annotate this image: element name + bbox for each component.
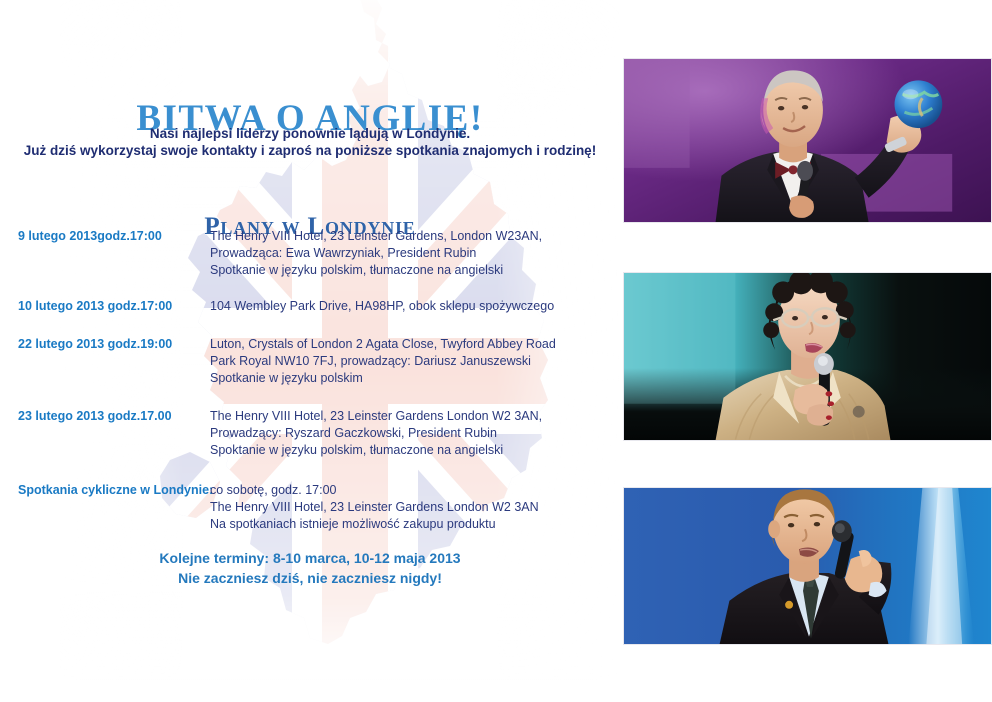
schedule-detail-line: Luton, Crystals of London 2 Agata Close,… [210,336,620,353]
schedule-detail-line: Prowadzący: Ryszard Gaczkowski, Presiden… [210,425,620,442]
schedule-row: 9 lutego 2013godz.17:00 The Henry VIII H… [0,228,620,279]
content-column: BITWA O ANGLIĘ! Nasi najlepsi liderzy po… [0,0,620,702]
schedule-row: 22 lutego 2013 godz.19:00 Luton, Crystal… [0,336,620,387]
footer-block: Kolejne terminy: 8-10 marca, 10-12 maja … [0,548,620,588]
schedule-details: Luton, Crystals of London 2 Agata Close,… [210,336,620,387]
schedule-detail-line: The Henry VIII Hotel, 23 Leinster Garden… [210,408,620,425]
schedule-list: 9 lutego 2013godz.17:00 The Henry VIII H… [0,228,620,533]
subtitle-line-1: Nasi najlepsi liderzy ponownie lądują w … [20,126,600,143]
schedule-details: The Henry VIII Hotel, 23 Leinster Garden… [210,408,620,459]
schedule-detail-line: The Henry VIII Hotel, 23 Leinster Garden… [210,499,620,516]
schedule-detail-line: Spotkanie w języku polskim [210,370,620,387]
subtitle-line-2: Już dziś wykorzystaj swoje kontakty i za… [20,143,600,160]
footer-line-2: Nie zaczniesz dziś, nie zaczniesz nigdy! [0,568,620,588]
schedule-detail-line: co sobotę, godz. 17:00 [210,482,620,499]
schedule-detail-line: Spoktanie w języku polskim, tłumaczone n… [210,442,620,459]
schedule-detail-line: Park Royal NW10 7FJ, prowadzący: Dariusz… [210,353,620,370]
photo-speaker-with-globe [623,58,992,223]
recurring-label: Spotkania cykliczne w Londynie: [0,482,210,498]
schedule-date-label: 10 lutego 2013 godz.17:00 [0,298,210,314]
schedule-detail-line: The Henry VIII Hotel, 23 Leinster Garden… [210,228,620,245]
schedule-row: 23 lutego 2013 godz.17.00 The Henry VIII… [0,408,620,459]
schedule-row-recurring: Spotkania cykliczne w Londynie: co sobot… [0,482,620,533]
schedule-date-label: 9 lutego 2013godz.17:00 [0,228,210,244]
schedule-details: The Henry VIII Hotel, 23 Leinster Garden… [210,228,620,279]
schedule-date-label: 23 lutego 2013 godz.17.00 [0,408,210,424]
schedule-detail-line: Na spotkaniach istnieje możliwość zakupu… [210,516,620,533]
poster-canvas: BITWA O ANGLIĘ! Nasi najlepsi liderzy po… [0,0,992,702]
schedule-row: 10 lutego 2013 godz.17:00 104 Wembley Pa… [0,298,620,315]
footer-line-1: Kolejne terminy: 8-10 marca, 10-12 maja … [0,548,620,568]
schedule-detail-line: Spotkanie w języku polskim, tłumaczone n… [210,262,620,279]
schedule-details: co sobotę, godz. 17:00 The Henry VIII Ho… [210,482,620,533]
photo-female-speaker [623,272,992,441]
schedule-details: 104 Wembley Park Drive, HA98HP, obok skl… [210,298,620,315]
schedule-detail-line: Prowadząca: Ewa Wawrzyniak, President Ru… [210,245,620,262]
subtitle-block: Nasi najlepsi liderzy ponownie lądują w … [20,126,600,159]
photo-male-speaker [623,487,992,645]
schedule-date-label: 22 lutego 2013 godz.19:00 [0,336,210,352]
schedule-detail-line: 104 Wembley Park Drive, HA98HP, obok skl… [210,298,620,315]
